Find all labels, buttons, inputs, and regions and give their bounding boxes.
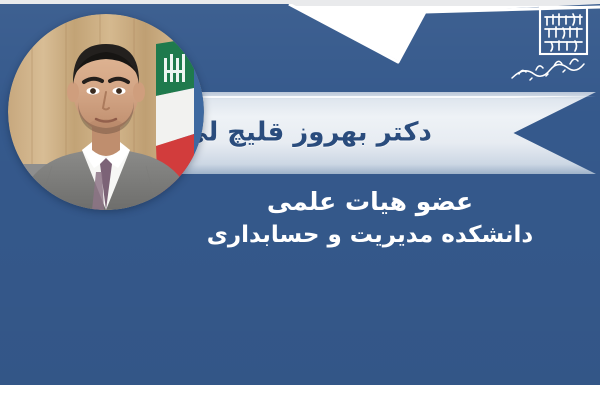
position-block: عضو هیات علمی دانشکده مدیریت و حسابداری (170, 186, 570, 251)
shahid-beheshti-university-logo (506, 4, 592, 90)
faculty-name: دانشکده مدیریت و حسابداری (170, 220, 570, 251)
position-title: عضو هیات علمی (170, 186, 570, 218)
bottom-white-area (0, 385, 600, 400)
profile-banner-card: دکتر بهروز قلیچ لی (0, 0, 600, 400)
avatar (8, 14, 204, 210)
